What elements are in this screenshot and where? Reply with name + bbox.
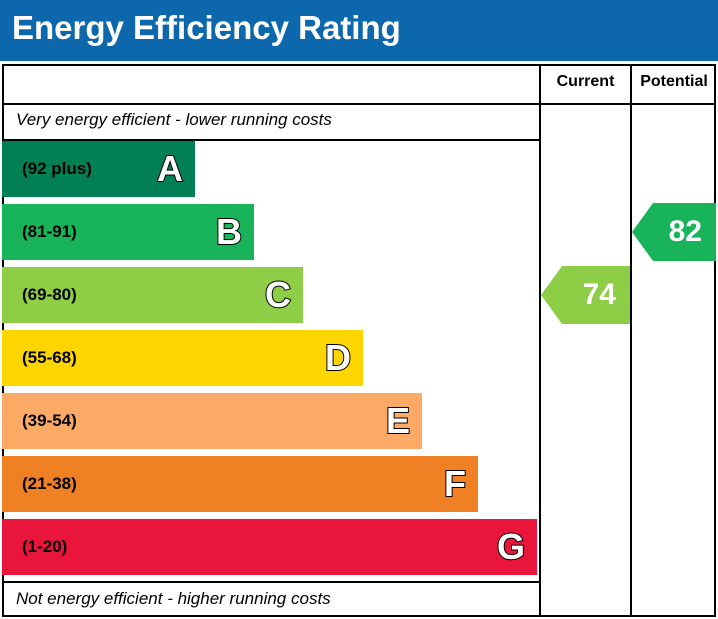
band-bar-f: (21-38)F [2, 456, 478, 512]
band-bar-c: (69-80)C [2, 267, 303, 323]
page-title: Energy Efficiency Rating [12, 9, 401, 47]
band-letter-e: E [386, 403, 410, 439]
band-bar-e: (39-54)E [2, 393, 422, 449]
potential-rating-marker: 82 [653, 203, 716, 261]
band-range-f: (21-38) [22, 474, 77, 494]
band-letter-c: C [265, 277, 291, 313]
band-letter-g: G [497, 529, 525, 565]
band-range-a: (92 plus) [22, 159, 92, 179]
potential-column-header: Potential [632, 73, 716, 91]
band-range-e: (39-54) [22, 411, 77, 431]
caption-bottom-divider [2, 581, 539, 583]
current-rating-value: 74 [583, 278, 616, 312]
band-range-g: (1-20) [22, 537, 67, 557]
band-letter-b: B [216, 214, 242, 250]
caption-bottom: Not energy efficient - higher running co… [16, 589, 331, 609]
caption-top: Very energy efficient - lower running co… [16, 110, 332, 130]
current-rating-marker: 74 [562, 266, 630, 324]
band-letter-d: D [325, 340, 351, 376]
band-bar-a: (92 plus)A [2, 141, 195, 197]
current-column-header: Current [541, 73, 630, 91]
band-range-b: (81-91) [22, 222, 77, 242]
epc-chart: Energy Efficiency Rating Current Potenti… [0, 0, 718, 619]
band-bar-d: (55-68)D [2, 330, 363, 386]
band-bar-g: (1-20)G [2, 519, 537, 575]
chart-title-bar: Energy Efficiency Rating [0, 0, 718, 61]
band-letter-f: F [444, 466, 466, 502]
header-divider [2, 103, 716, 105]
band-bar-b: (81-91)B [2, 204, 254, 260]
potential-rating-value: 82 [669, 215, 702, 249]
band-range-c: (69-80) [22, 285, 77, 305]
current-marker-arrow-icon [541, 266, 562, 324]
band-range-d: (55-68) [22, 348, 77, 368]
potential-column-divider [630, 64, 632, 617]
current-column-divider [539, 64, 541, 617]
potential-marker-arrow-icon [632, 203, 653, 261]
band-letter-a: A [157, 151, 183, 187]
